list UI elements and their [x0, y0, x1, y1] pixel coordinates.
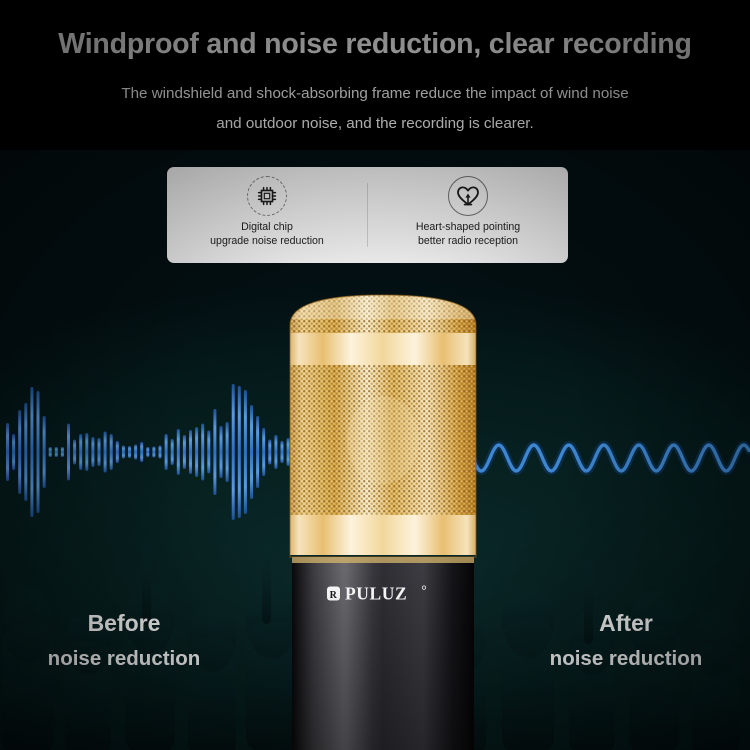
subtitle-line-2: and outdoor noise, and the recording is …	[0, 115, 750, 132]
feature-label-line-1: Heart-shaped pointing	[416, 221, 520, 235]
feature-label-line-2: upgrade noise reduction	[210, 235, 324, 249]
feature-label-group: Digital chip upgrade noise reduction	[210, 221, 324, 248]
heart-mic-icon	[448, 176, 488, 216]
waveform-before-noise-reduction	[0, 300, 290, 600]
feature-label-group: Heart-shaped pointing better radio recep…	[416, 221, 520, 248]
feature-item-digital-chip: Digital chip upgrade noise reduction	[167, 167, 367, 263]
microphone-product-image: R PULUZ	[283, 285, 483, 750]
feature-label-line-2: better radio reception	[416, 235, 520, 249]
caption-before-title: Before	[0, 610, 248, 637]
product-feature-banner: Windproof and noise reduction, clear rec…	[0, 0, 750, 750]
caption-before-subtitle: noise reduction	[0, 647, 248, 671]
microphone-grille-head	[283, 285, 483, 560]
feature-card: Digital chip upgrade noise reduction Hea…	[167, 167, 568, 263]
page-title: Windproof and noise reduction, clear rec…	[0, 28, 750, 61]
feature-label-line-1: Digital chip	[210, 221, 324, 235]
subtitle-line-1: The windshield and shock-absorbing frame…	[0, 85, 750, 102]
caption-after-subtitle: noise reduction	[502, 647, 750, 671]
feature-item-heart-pattern: Heart-shaped pointing better radio recep…	[368, 167, 568, 263]
chip-icon	[247, 176, 287, 216]
svg-text:R: R	[330, 590, 338, 601]
svg-text:PULUZ: PULUZ	[345, 584, 407, 604]
waveform-after-noise-reduction	[455, 400, 750, 520]
caption-after-title: After	[502, 610, 750, 637]
